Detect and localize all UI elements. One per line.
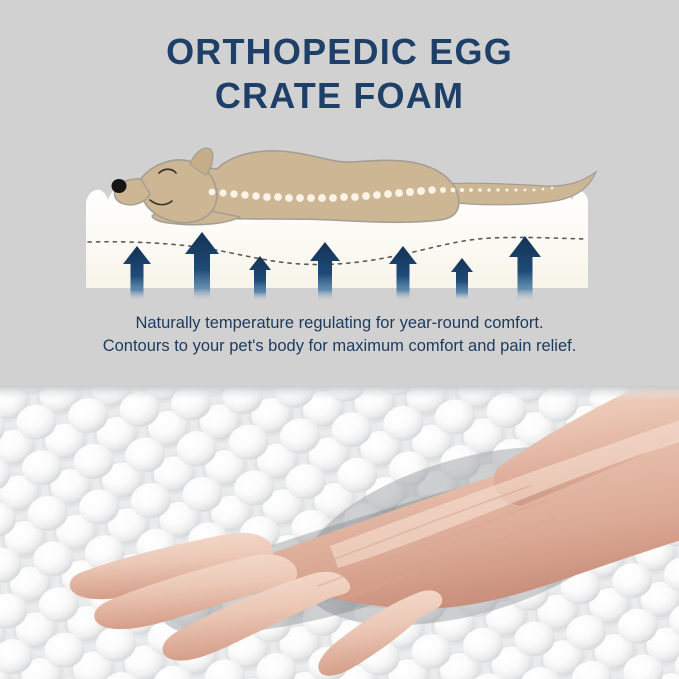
foam-photo-panel [0, 386, 679, 679]
hand-pressing-foam-photo [0, 386, 679, 679]
infographic-panel: ORTHOPEDIC EGG CRATE FOAM [0, 0, 679, 386]
benefit-line-1: Naturally temperature regulating for yea… [0, 312, 679, 335]
page-title: ORTHOPEDIC EGG CRATE FOAM [0, 30, 679, 118]
product-feature-graphic: ORTHOPEDIC EGG CRATE FOAM [0, 0, 679, 679]
benefit-copy: Naturally temperature regulating for yea… [0, 312, 679, 358]
dog-on-foam-illustration [0, 120, 679, 310]
photo-top-blend [0, 386, 679, 400]
title-line-2: CRATE FOAM [0, 74, 679, 118]
benefit-line-2: Contours to your pet's body for maximum … [0, 335, 679, 358]
title-line-1: ORTHOPEDIC EGG [0, 30, 679, 74]
dog-nose-icon [112, 179, 127, 193]
